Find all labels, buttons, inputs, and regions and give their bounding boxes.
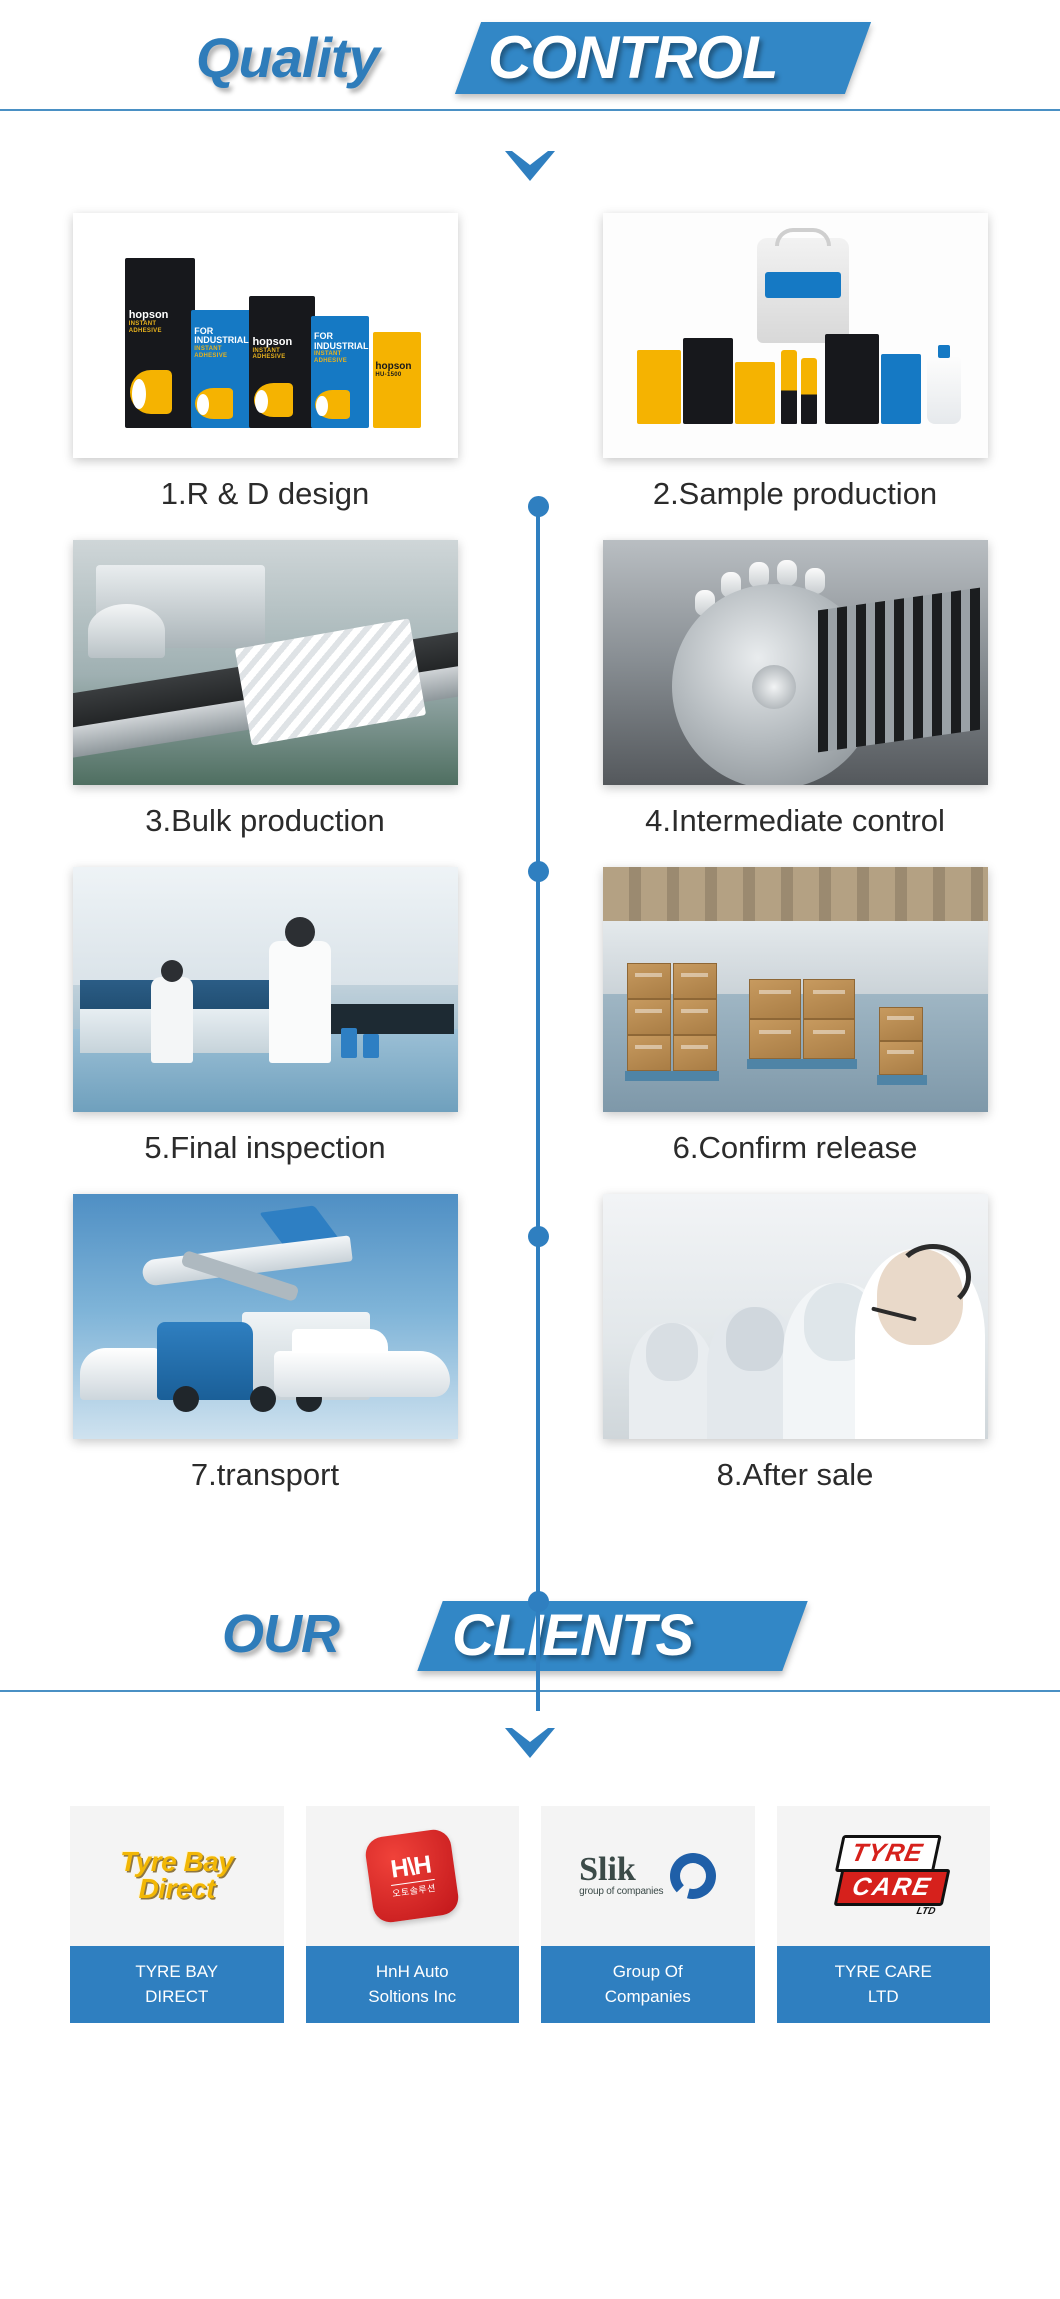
step-4-image [603,540,988,785]
step-2-image [603,213,988,458]
step-5-image [73,867,458,1112]
clients-chevron-wrap [0,1728,1060,1758]
step-8-after-sale[interactable]: 8.After sale [530,1186,1060,1513]
quality-control-banner: Quality CONTROL [0,0,1060,125]
logo-line-1: H\H [389,1852,432,1882]
step-6-image [603,867,988,1112]
banner-word-our: OUR [222,1603,339,1665]
step-4-intermediate-control[interactable]: 4.Intermediate control [530,532,1060,859]
hnh-auto-logo: H\H 오토솔루션 [306,1806,520,1946]
process-steps-section: hopsonINSTANT ADHESIVE FOR INDUSTRIALINS… [0,181,1060,1513]
step-2-sample-production[interactable]: 2.Sample production [530,205,1060,532]
step-7-transport[interactable]: 7.transport [0,1186,530,1513]
step-3-label: 3.Bulk production [145,803,385,839]
step-1-rd-design[interactable]: hopsonINSTANT ADHESIVE FOR INDUSTRIALINS… [0,205,530,532]
banner-word-quality: Quality [196,25,379,90]
chevron-down-icon [505,151,555,181]
step-4-label: 4.Intermediate control [645,803,945,839]
step-8-image [603,1194,988,1439]
logo-line-3: LTD [809,1906,936,1917]
swirl-icon [670,1853,716,1899]
client-caption: Group Of Companies [541,1946,755,2023]
quality-chevron-wrap [0,151,1060,181]
banner-word-clients: CLIENTS [452,1602,693,1669]
step-5-final-inspection[interactable]: 5.Final inspection [0,859,530,1186]
step-1-label: 1.R & D design [161,476,370,512]
banner-word-control: CONTROL [488,23,778,92]
timeline-dot [528,1591,549,1612]
client-card-tyre-care-ltd[interactable]: TYRE CARE LTD TYRE CARE LTD [777,1806,991,2023]
client-caption: TYRE CARE LTD [777,1946,991,2023]
slik-group-logo: Slik group of companies [541,1806,755,1946]
step-7-label: 7.transport [191,1457,339,1493]
logo-line-2: CARE [833,1869,950,1906]
step-7-image [73,1194,458,1439]
step-2-label: 2.Sample production [653,476,937,512]
chevron-down-icon [505,1728,555,1758]
step-6-label: 6.Confirm release [673,1130,918,1166]
step-3-image [73,540,458,785]
clients-grid: Tyre Bay Direct TYRE BAY DIRECT H\H 오토솔루… [0,1758,1060,2083]
client-caption: TYRE BAY DIRECT [70,1946,284,2023]
tyre-care-ltd-logo: TYRE CARE LTD [777,1806,991,1946]
logo-line-1: Slik [579,1855,663,1886]
client-card-tyre-bay-direct[interactable]: Tyre Bay Direct TYRE BAY DIRECT [70,1806,284,2023]
logo-line-2: Direct [139,1873,215,1904]
step-1-image: hopsonINSTANT ADHESIVE FOR INDUSTRIALINS… [73,213,458,458]
step-6-confirm-release[interactable]: 6.Confirm release [530,859,1060,1186]
client-caption: HnH Auto Soltions Inc [306,1946,520,2023]
quality-control-page: Quality CONTROL hopsonINSTANT ADHESIVE [0,0,1060,2299]
step-3-bulk-production[interactable]: 3.Bulk production [0,532,530,859]
logo-line-2: group of companies [579,1886,663,1897]
step-8-label: 8.After sale [717,1457,874,1493]
tyre-bay-direct-logo: Tyre Bay Direct [70,1806,284,1946]
logo-line-1: TYRE [835,1835,942,1872]
client-card-slik-group[interactable]: Slik group of companies Group Of Compani… [541,1806,755,2023]
client-card-hnh-auto[interactable]: H\H 오토솔루션 HnH Auto Soltions Inc [306,1806,520,2023]
step-5-label: 5.Final inspection [144,1130,385,1166]
